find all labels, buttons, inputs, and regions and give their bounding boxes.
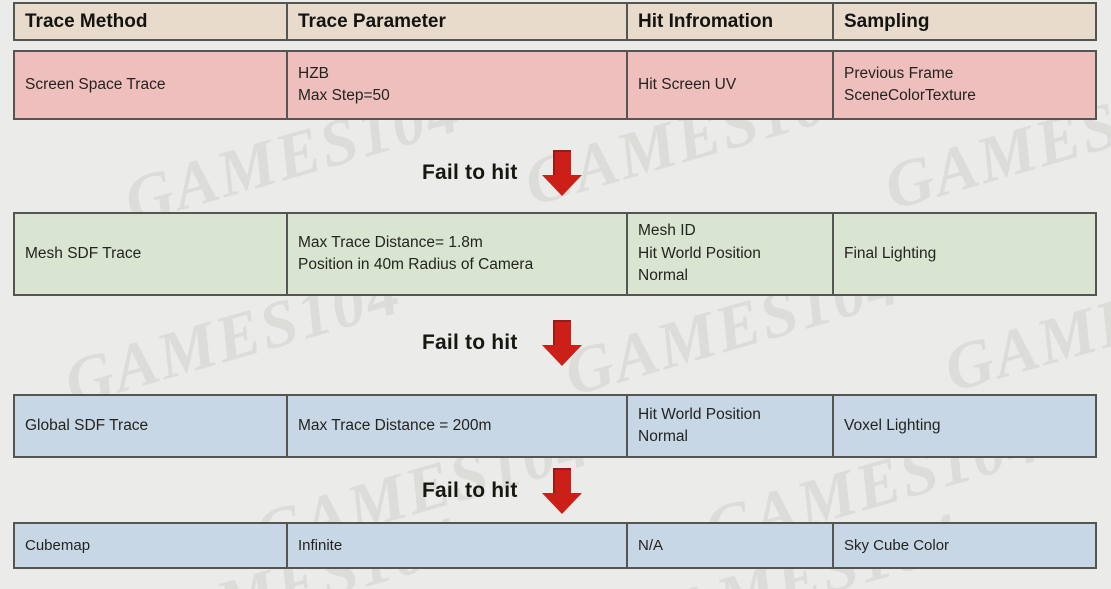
connector-fail-to-hit-2: Fail to hit [422, 320, 582, 366]
cell-text: Sky Cube Color [844, 535, 949, 557]
cell-text: HZB Max Step=50 [298, 63, 390, 108]
cell-trace-method: Global SDF Trace [15, 396, 288, 456]
header-label: Sampling [844, 8, 930, 36]
cell-text: Max Trace Distance= 1.8m Position in 40m… [298, 232, 533, 277]
header-cell-trace-method: Trace Method [15, 4, 288, 39]
cell-trace-parameter: Max Trace Distance = 200m [288, 396, 628, 456]
cell-trace-method: Cubemap [15, 524, 288, 567]
cell-trace-parameter: Infinite [288, 524, 628, 567]
fail-to-hit-label: Fail to hit [422, 479, 518, 503]
arrow-down-icon [542, 320, 582, 366]
cell-text: Mesh ID Hit World Position Normal [638, 220, 761, 287]
header-label: Hit Infromation [638, 8, 773, 36]
header-cell-sampling: Sampling [834, 4, 1095, 39]
cell-sampling: Sky Cube Color [834, 524, 1095, 567]
table-row: Global SDF Trace Max Trace Distance = 20… [13, 394, 1097, 458]
cell-text: Cubemap [25, 535, 90, 557]
cell-text: Previous Frame SceneColorTexture [844, 63, 976, 108]
fail-to-hit-label: Fail to hit [422, 161, 518, 185]
cell-hit-information: Mesh ID Hit World Position Normal [628, 214, 834, 294]
cell-text: Max Trace Distance = 200m [298, 415, 491, 437]
header-cell-trace-parameter: Trace Parameter [288, 4, 628, 39]
table-header-row: Trace Method Trace Parameter Hit Infroma… [13, 2, 1097, 41]
cell-text: Hit Screen UV [638, 74, 736, 96]
cell-text: Global SDF Trace [25, 415, 148, 437]
arrow-down-icon [542, 468, 582, 514]
fail-to-hit-label: Fail to hit [422, 331, 518, 355]
cell-text: N/A [638, 535, 663, 557]
cell-hit-information: Hit Screen UV [628, 52, 834, 118]
cell-hit-information: Hit World Position Normal [628, 396, 834, 456]
cell-text: Infinite [298, 535, 342, 557]
table-row: Cubemap Infinite N/A Sky Cube Color [13, 522, 1097, 569]
cell-text: Mesh SDF Trace [25, 243, 141, 265]
connector-fail-to-hit-3: Fail to hit [422, 468, 582, 514]
arrow-down-icon [542, 150, 582, 196]
cell-sampling: Voxel Lighting [834, 396, 1095, 456]
header-label: Trace Method [25, 8, 147, 36]
connector-fail-to-hit-1: Fail to hit [422, 150, 582, 196]
cell-text: Screen Space Trace [25, 74, 165, 96]
cell-trace-method: Mesh SDF Trace [15, 214, 288, 294]
cell-text: Voxel Lighting [844, 415, 941, 437]
table-row: Screen Space Trace HZB Max Step=50 Hit S… [13, 50, 1097, 120]
cell-trace-parameter: HZB Max Step=50 [288, 52, 628, 118]
cell-sampling: Previous Frame SceneColorTexture [834, 52, 1095, 118]
cell-sampling: Final Lighting [834, 214, 1095, 294]
table-row: Mesh SDF Trace Max Trace Distance= 1.8m … [13, 212, 1097, 296]
cell-hit-information: N/A [628, 524, 834, 567]
cell-trace-method: Screen Space Trace [15, 52, 288, 118]
header-cell-hit-information: Hit Infromation [628, 4, 834, 39]
cell-text: Final Lighting [844, 243, 936, 265]
header-label: Trace Parameter [298, 8, 446, 36]
cell-trace-parameter: Max Trace Distance= 1.8m Position in 40m… [288, 214, 628, 294]
trace-pipeline-diagram: Trace Method Trace Parameter Hit Infroma… [0, 0, 1111, 589]
cell-text: Hit World Position Normal [638, 404, 761, 449]
